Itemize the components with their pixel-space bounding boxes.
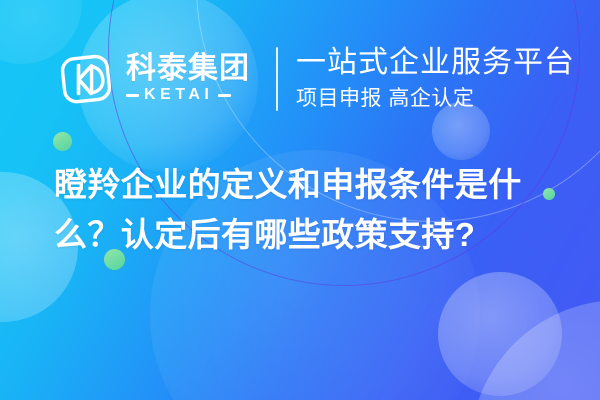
banner-header: 科泰集团 KETAI 一站式企业服务平台 项目申报 高企认定 <box>0 38 600 120</box>
wordmark-rule-left <box>126 94 139 97</box>
header-tagline: 一站式企业服务平台 项目申报 高企认定 <box>296 46 575 112</box>
ketai-kd-monogram-icon <box>58 50 116 108</box>
background-blob-bottom-right <box>438 272 562 396</box>
header-divider <box>276 47 278 111</box>
brand-name-en: KETAI <box>144 86 213 104</box>
background-blob-bottom-right-corner <box>470 300 600 400</box>
brand-logo[interactable]: 科泰集团 KETAI <box>58 50 250 108</box>
wordmark-rule-right <box>218 94 231 97</box>
promo-banner: 科泰集团 KETAI 一站式企业服务平台 项目申报 高企认定 瞪羚企业的定义和申… <box>0 0 600 400</box>
brand-name-cn: 科泰集团 <box>126 54 250 85</box>
tagline-secondary: 项目申报 高企认定 <box>296 85 575 112</box>
brand-name-en-row: KETAI <box>126 86 250 104</box>
green-dot-upper-left <box>53 132 72 151</box>
banner-headline: 瞪羚企业的定义和申报条件是什么？认定后有哪些政策支持? <box>54 160 566 260</box>
brand-wordmark: 科泰集团 KETAI <box>126 54 250 105</box>
tagline-primary: 一站式企业服务平台 <box>296 46 575 81</box>
